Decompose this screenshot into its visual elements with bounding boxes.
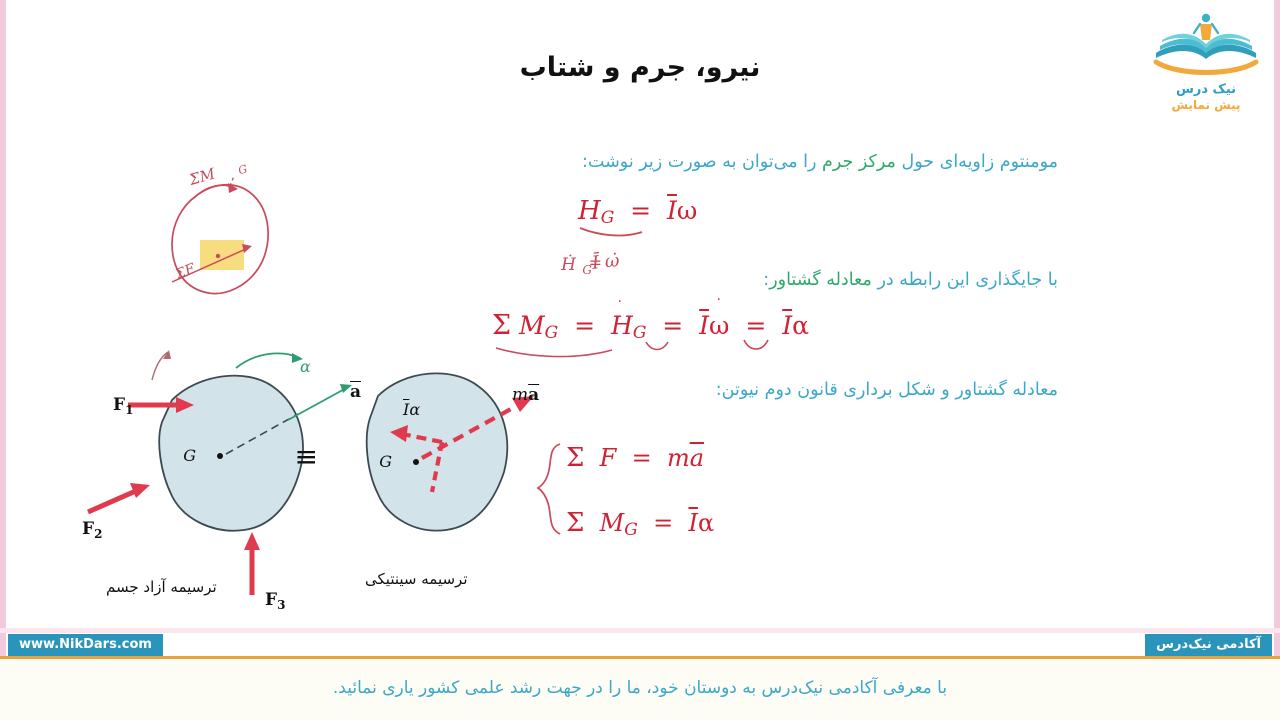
force-f1-label: F1 xyxy=(113,395,133,417)
hand-underline-eq1 xyxy=(580,228,642,235)
line2-highlight: معادله گشتاور xyxy=(769,270,872,290)
equation-moment-second: Σ MG = Iα xyxy=(566,508,714,540)
force-f2-label: F2 xyxy=(82,519,102,541)
hand-sumf-label: ΣF xyxy=(172,260,198,283)
kinetic-caption: ترسیمه سینتیکی xyxy=(365,570,468,588)
kinetic-centroid-dot xyxy=(413,459,419,465)
page-title: نیرو، جرم و شتاب xyxy=(0,52,1280,83)
line2-part-a: با جایگذاری این رابطه در xyxy=(872,270,1058,290)
frame-right-border xyxy=(1274,0,1280,656)
ma-label: ma xyxy=(512,385,539,405)
hand-hgdot-equals: = xyxy=(589,253,602,272)
free-body-centroid-label: G xyxy=(183,446,196,465)
hand-moment-arc-head xyxy=(228,183,238,193)
force-diagram: G ≡ G xyxy=(60,330,580,620)
website-badge[interactable]: www.NikDars.com xyxy=(8,634,163,656)
force-f2-line xyxy=(88,490,138,512)
explanation-line-3: معادله گشتاور و شکل برداری قانون دوم نیو… xyxy=(716,380,1058,400)
hand-summg-subscript: G xyxy=(237,162,249,177)
line1-part-b: را می‌توان به صورت زیر نوشت: xyxy=(582,152,822,172)
force-f3-label: F3 xyxy=(265,590,285,612)
hand-blob xyxy=(172,185,268,294)
hand-moment-connector xyxy=(230,176,234,186)
hand-highlight-patch xyxy=(200,240,244,270)
alpha-arc xyxy=(236,353,300,368)
hand-hgdot-subscript: G xyxy=(582,263,592,277)
alpha-label: α xyxy=(300,357,311,376)
academy-badge[interactable]: آکادمی نیک‌درس xyxy=(1145,634,1272,656)
free-body-centroid-dot xyxy=(217,453,223,459)
footer-message: با معرفی آکادمی نیک‌درس به دوستان خود، م… xyxy=(0,678,1280,698)
force-f3-head xyxy=(244,532,260,550)
kinetic-centroid-label: G xyxy=(379,452,392,471)
frame-left-border xyxy=(0,0,6,656)
equation-newton-second-law: Σ F = ma xyxy=(566,443,704,473)
logo-subtitle: پیش نمایش xyxy=(1171,98,1240,112)
equation-angular-momentum: HG = Iω xyxy=(578,196,697,228)
hand-sumf-arrow-head xyxy=(242,244,252,253)
equivalence-symbol: ≡ xyxy=(295,440,318,473)
force-f2-head xyxy=(130,483,150,498)
hand-moment-arc xyxy=(194,185,234,198)
accel-vector-label: a xyxy=(350,382,361,402)
hand-brace-iwdot xyxy=(646,342,668,350)
hand-hgdot-label: Ḣ xyxy=(560,254,577,275)
line1-part-a: مومنتوم زاویه‌ای حول xyxy=(896,152,1058,172)
free-body-caption: ترسیمه آزاد جسم xyxy=(106,578,217,596)
explanation-line-2: با جایگذاری این رابطه در معادله گشتاور: xyxy=(763,270,1058,290)
logo-title: نیک درس xyxy=(1176,82,1236,97)
accel-vector-line xyxy=(288,386,350,420)
hand-sumf-dot xyxy=(216,254,220,258)
hand-hgdot-rhs: Ī ω̇ xyxy=(590,248,621,274)
hand-summg-label: ΣM xyxy=(186,164,217,189)
ialpha-label: Iα xyxy=(403,400,420,419)
line1-highlight: مرکز جرم xyxy=(822,152,896,172)
frame-top xyxy=(0,0,1280,4)
free-body-shape xyxy=(159,376,303,531)
explanation-line-1: مومنتوم زاویه‌ای حول مرکز جرم را می‌توان… xyxy=(582,152,1058,172)
footer-pink-strip xyxy=(0,628,1280,633)
hand-sumf-arrow-line xyxy=(172,248,248,282)
slide-canvas: نیک درس پیش نمایش نیرو، جرم و شتاب مومنت… xyxy=(0,0,1280,720)
